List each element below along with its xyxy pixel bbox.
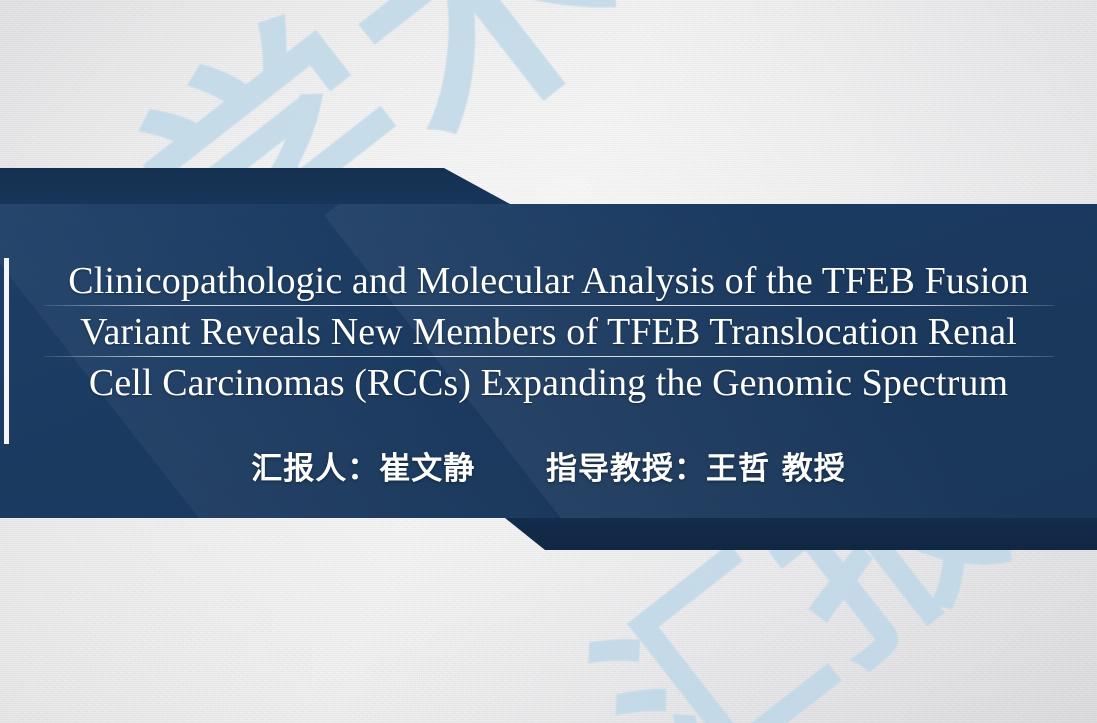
title-slide: 学术 汇报 Clinicopathologic and Molecular An…: [0, 0, 1097, 723]
presenter-line: 汇报人：崔文静 指导教授：王哲 教授: [0, 443, 1097, 488]
banner-bottom-strip: [0, 518, 1097, 550]
title-accent-bar: [4, 258, 9, 444]
banner-top-strip: [0, 168, 510, 204]
title-line-3: Cell Carcinomas (RCCs) Expanding the Gen…: [0, 358, 1097, 409]
title-line-1: Clinicopathologic and Molecular Analysis…: [0, 256, 1097, 307]
title-line-2: Variant Reveals New Members of TFEB Tran…: [0, 307, 1097, 358]
page-title: Clinicopathologic and Molecular Analysis…: [0, 256, 1097, 409]
